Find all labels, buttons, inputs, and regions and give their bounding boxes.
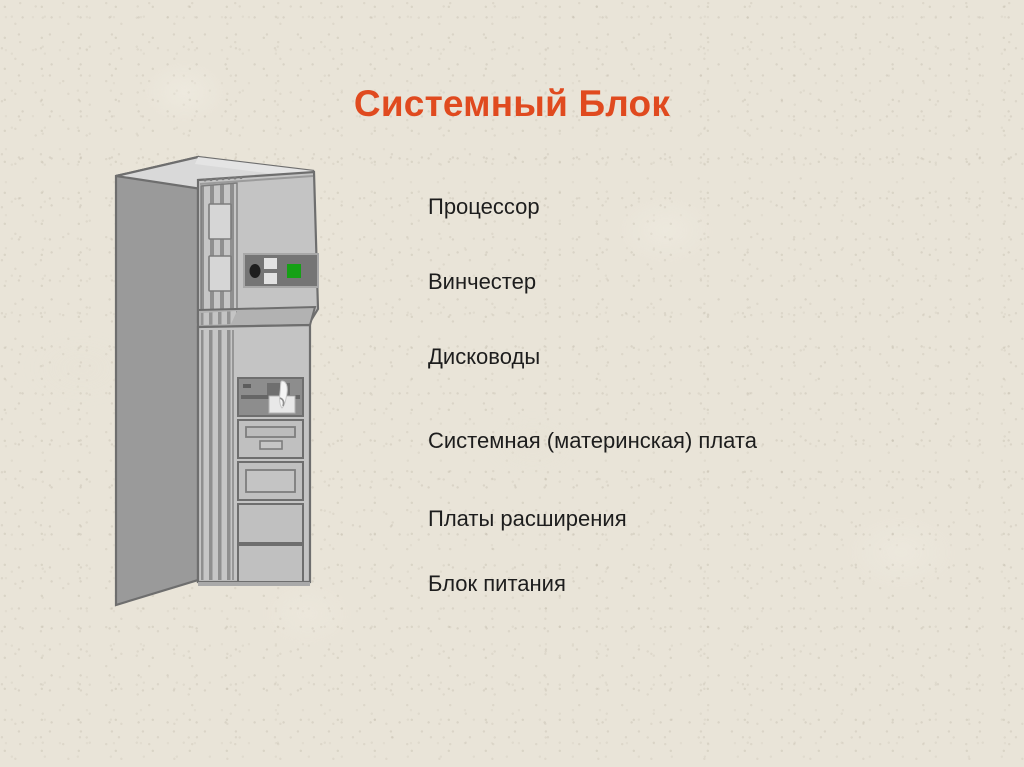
- indicator-square-top: [264, 258, 277, 269]
- floppy-drive-slot: [246, 427, 295, 437]
- indicator-square-bottom: [264, 273, 277, 284]
- list-item: Дисководы: [428, 346, 757, 368]
- list-item: Винчестер: [428, 271, 757, 293]
- bezel-button-lower[interactable]: [209, 256, 231, 291]
- blank-bay-1-inset: [246, 470, 295, 492]
- vent-stripes-lower: [201, 330, 233, 580]
- left-side-panel: [116, 157, 198, 605]
- blank-drive-bay-3: [238, 545, 303, 582]
- tower-bottom-edge: [198, 582, 310, 586]
- floppy-drive-bay[interactable]: [238, 420, 303, 458]
- list-item: Блок питания: [428, 573, 757, 595]
- list-item: Платы расширения: [428, 508, 757, 530]
- floppy-drive-eject-button[interactable]: [260, 441, 282, 449]
- list-item: Системная (материнская) плата: [428, 430, 757, 452]
- blank-drive-bay-2: [238, 504, 303, 543]
- power-led: [287, 264, 301, 278]
- computer-tower-illustration: [110, 150, 370, 630]
- page-title: Системный Блок: [0, 83, 1024, 125]
- bezel-button-upper[interactable]: [209, 204, 231, 239]
- cd-drive-button[interactable]: [243, 384, 251, 388]
- list-item: Процессор: [428, 196, 757, 218]
- feature-list: Процессор Винчестер Дисководы Системная …: [428, 196, 757, 595]
- presentation-slide: Системный Блок: [0, 0, 1024, 767]
- power-knob[interactable]: [250, 264, 261, 278]
